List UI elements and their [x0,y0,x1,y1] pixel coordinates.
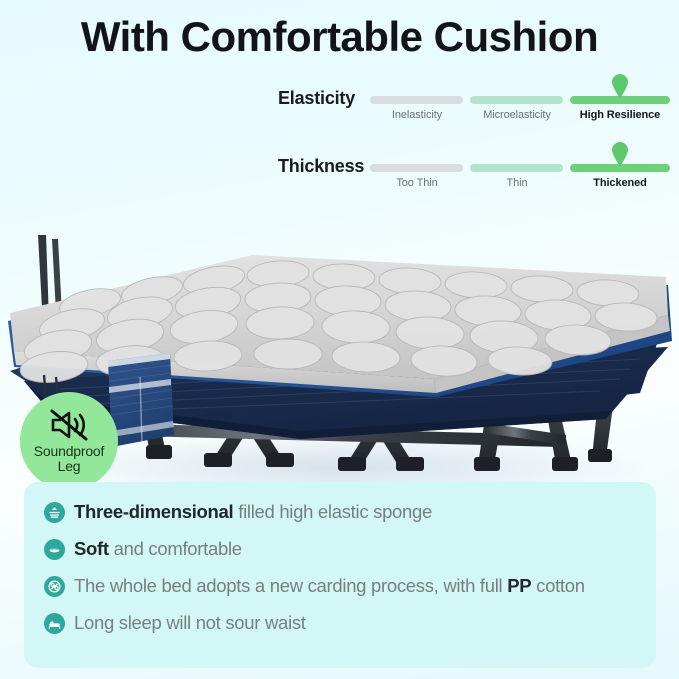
list-item: The whole bed adopts a new carding proce… [44,571,585,601]
list-item-rest: and comfortable [109,538,242,559]
list-item: Long sleep will not sour waist [44,608,306,638]
spec-level-label-2: Microelasticity [462,109,572,125]
carding-process-icon [44,576,65,597]
sponge-layers-icon [44,502,65,523]
soft-pillow-icon [44,539,65,560]
page-title: With Comfortable Cushion [0,13,679,61]
list-item-label: Three-dimensional filled high elastic sp… [74,501,432,523]
list-item-rest: The whole bed adopts a new carding proce… [74,575,507,596]
spec-label-elasticity: Elasticity [278,88,368,109]
map-pin-marker-icon [610,73,630,99]
badge-label: Soundproof Leg [34,444,104,474]
list-item-label: The whole bed adopts a new carding proce… [74,575,585,597]
bed-rest-icon [44,613,65,634]
badge-line-2: Leg [58,458,81,474]
mute-speaker-icon [48,408,90,442]
soundproof-leg-badge: Soundproof Leg [20,392,118,490]
badge-line-1: Soundproof [34,443,104,459]
spec-bars-elasticity: Inelasticity Microelasticity High Resili… [370,85,670,131]
list-item-tail: cotton [531,575,584,596]
spec-segment-level1 [370,96,463,104]
cot-side-pocket [108,353,174,447]
spec-level-label-1: Inelasticity [362,109,472,125]
list-item-rest: filled high elastic sponge [233,501,432,522]
list-item-emphasis: Soft [74,538,109,559]
spec-level-label-3: High Resilience [565,109,675,125]
spec-row-elasticity: Elasticity Inelasticity Microelasticity … [278,85,670,133]
list-item: Soft and comfortable [44,534,242,564]
list-item-emphasis: Three-dimensional [74,501,233,522]
feature-list-panel: Three-dimensional filled high elastic sp… [24,482,656,668]
list-item: Three-dimensional filled high elastic sp… [44,497,432,527]
spec-segment-level2 [470,96,563,104]
infographic-canvas: With Comfortable Cushion Elasticity Inel… [0,0,679,679]
list-item-emphasis: PP [507,575,531,596]
list-item-label: Long sleep will not sour waist [74,612,306,634]
list-item-rest: Long sleep will not sour waist [74,612,306,633]
list-item-label: Soft and comfortable [74,538,242,560]
